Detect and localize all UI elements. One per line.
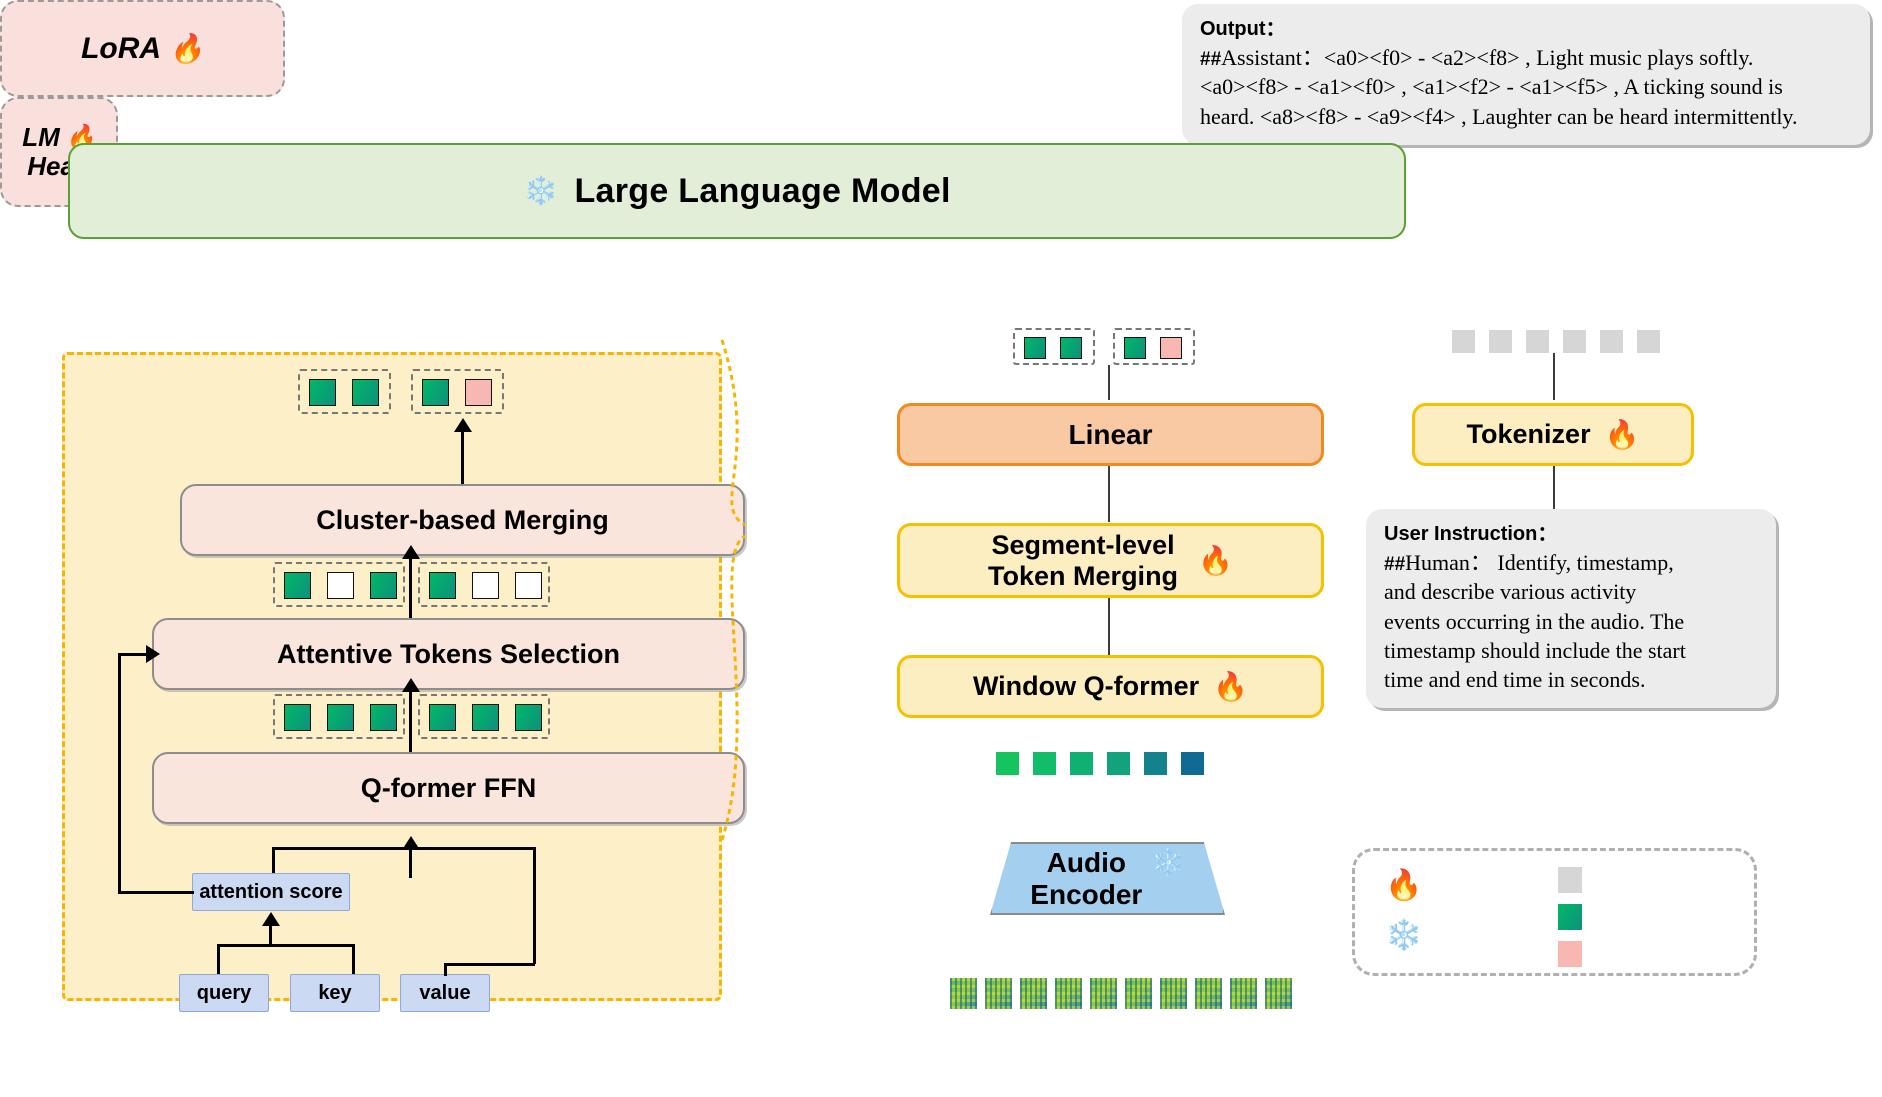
- fire-icon: 🔥: [169, 35, 204, 63]
- arrow-head: [262, 912, 280, 926]
- attention-score-label: attention score: [199, 881, 342, 904]
- spectrogram-patch: [1090, 978, 1117, 1009]
- token-green: [1107, 752, 1130, 775]
- token-green: [429, 704, 456, 731]
- key-label: key: [318, 982, 351, 1005]
- token-gray: [1526, 330, 1549, 353]
- legend-swatch-pink: [1558, 941, 1582, 967]
- audio-encoder-block[interactable]: Audio Encoder ❄️: [990, 842, 1225, 915]
- output-line-3: heard. <a8><f8> - <a9><f4> , Laughter ca…: [1200, 104, 1798, 129]
- snowflake-icon: ❄️: [1385, 921, 1422, 951]
- audio-encoder-label-line2: Encoder: [1030, 879, 1142, 910]
- attentive-tokens-selection-label: Attentive Tokens Selection: [277, 639, 620, 670]
- large-language-model-block[interactable]: ❄️ Large Language Model: [68, 143, 1406, 239]
- cluster-based-merging-label: Cluster-based Merging: [316, 505, 609, 536]
- token-gray: [1489, 330, 1512, 353]
- token-green: [1024, 337, 1046, 359]
- token-gray: [1563, 330, 1586, 353]
- token-green: [1033, 752, 1056, 775]
- lora-block[interactable]: LoRA 🔥: [0, 0, 285, 97]
- attention-score-box[interactable]: attention score: [192, 873, 350, 911]
- connector-line: [409, 690, 412, 752]
- connector-line: [1108, 598, 1110, 655]
- connector-line: [1108, 365, 1110, 400]
- audio-encoder-label: Audio Encoder ❄️: [1030, 847, 1184, 910]
- fire-icon: 🔥: [1213, 673, 1248, 701]
- token-green: [1060, 337, 1082, 359]
- connector-line: [444, 963, 535, 966]
- spectrogram-patch: [950, 978, 977, 1009]
- legend-swatch-gray: [1558, 867, 1582, 893]
- output-bubble: Output： ##Assistant：<a0><f0> - <a2><f8> …: [1182, 4, 1870, 145]
- connector-line: [272, 847, 535, 850]
- connector-line: [352, 944, 355, 975]
- connector-line: [217, 944, 354, 947]
- token-green: [284, 572, 311, 599]
- connector-line: [269, 924, 272, 946]
- llm-label: Large Language Model: [574, 172, 950, 211]
- spectrogram-patch: [1230, 978, 1257, 1009]
- fire-icon: 🔥: [1605, 421, 1640, 449]
- qformer-ffn-label: Q-former FFN: [361, 773, 537, 804]
- token-gray: [1600, 330, 1623, 353]
- token-pink: [1160, 337, 1182, 359]
- lm-head-label-line1: LM: [22, 123, 60, 152]
- snowflake-icon: ❄️: [523, 177, 558, 205]
- spectrogram-patch: [1195, 978, 1222, 1009]
- legend-box: 🔥 ❄️: [1352, 848, 1757, 976]
- spectrogram-patch: [985, 978, 1012, 1009]
- linear-label: Linear: [1068, 419, 1152, 451]
- tokenizer-label: Tokenizer: [1467, 419, 1591, 450]
- token-green: [996, 752, 1019, 775]
- audio-encoder-label-line1: Audio: [1030, 847, 1142, 878]
- spectrogram-patch: [1160, 978, 1187, 1009]
- value-box[interactable]: value: [400, 974, 490, 1012]
- fire-icon: 🔥: [1198, 547, 1233, 575]
- spectrogram-patch: [1265, 978, 1292, 1009]
- output-line-2: <a0><f8> - <a1><f0> , <a1><f2> - <a1><f5…: [1200, 74, 1783, 99]
- figure-canvas: Output： ##Assistant：<a0><f0> - <a2><f8> …: [0, 0, 1882, 1097]
- spectrogram-patch: [1055, 978, 1082, 1009]
- connector-line: [118, 654, 121, 892]
- zoom-connector: [600, 340, 790, 860]
- token-green: [1144, 752, 1167, 775]
- arrow-head: [454, 418, 472, 432]
- tokenizer-block[interactable]: Tokenizer 🔥: [1412, 403, 1694, 466]
- connector-line: [1108, 466, 1110, 522]
- fire-icon: 🔥: [1385, 871, 1422, 901]
- token-white: [515, 572, 542, 599]
- token-green: [370, 704, 397, 731]
- token-green: [1124, 337, 1146, 359]
- token-gray: [1452, 330, 1475, 353]
- arrow-head: [402, 678, 420, 692]
- segment-merging-label-line2: Token Merging: [988, 561, 1178, 591]
- user-line-1: Human： Identify, timestamp,: [1405, 550, 1674, 575]
- query-box[interactable]: query: [179, 974, 269, 1012]
- window-qformer-block[interactable]: Window Q-former 🔥: [897, 655, 1324, 718]
- token-green: [472, 704, 499, 731]
- output-bubble-header: Output：: [1200, 16, 1854, 43]
- token-green: [429, 572, 456, 599]
- connector-line: [272, 847, 275, 875]
- token-gray: [1637, 330, 1660, 353]
- token-pink: [465, 379, 492, 406]
- user-instruction-body: ##Human： Identify, timestamp, and descri…: [1384, 548, 1760, 694]
- linear-block[interactable]: Linear: [897, 403, 1324, 466]
- window-qformer-label: Window Q-former: [973, 671, 1199, 702]
- user-line-3: events occurring in the audio. The: [1384, 609, 1684, 634]
- lora-label: LoRA: [81, 32, 161, 65]
- connector-line: [409, 556, 412, 618]
- user-line-2: and describe various activity: [1384, 579, 1636, 604]
- token-green: [422, 379, 449, 406]
- output-line-1: Assistant：<a0><f0> - <a2><f8> , Light mu…: [1221, 45, 1753, 70]
- user-instruction-header: User Instruction：: [1384, 521, 1760, 548]
- output-hash-marker: ##: [1200, 49, 1221, 70]
- value-label: value: [419, 982, 470, 1005]
- token-green: [309, 379, 336, 406]
- connector-line: [1553, 353, 1555, 400]
- connector-line: [533, 847, 536, 964]
- token-green: [515, 704, 542, 731]
- token-white: [472, 572, 499, 599]
- token-white: [327, 572, 354, 599]
- connector-line: [409, 848, 412, 878]
- arrow-head: [402, 545, 420, 559]
- user-instruction-bubble: User Instruction： ##Human： Identify, tim…: [1366, 509, 1776, 708]
- user-line-5: time and end time in seconds.: [1384, 667, 1646, 692]
- query-label: query: [197, 982, 251, 1005]
- arrow-head: [146, 645, 160, 663]
- token-green: [370, 572, 397, 599]
- segment-level-token-merging-block[interactable]: Segment-level Token Merging 🔥: [897, 523, 1324, 598]
- connector-line: [1553, 466, 1555, 511]
- connector-line: [461, 430, 464, 484]
- user-hash-marker: ##: [1384, 554, 1405, 575]
- key-box[interactable]: key: [290, 974, 380, 1012]
- connector-line: [217, 944, 220, 975]
- spectrogram-patch: [1020, 978, 1047, 1009]
- token-green: [1070, 752, 1093, 775]
- segment-merging-label-line1: Segment-level: [988, 530, 1178, 560]
- connector-line: [118, 891, 194, 894]
- token-green: [1181, 752, 1204, 775]
- legend-swatch-green: [1558, 904, 1582, 930]
- token-green: [284, 704, 311, 731]
- output-bubble-body: ##Assistant：<a0><f0> - <a2><f8> , Light …: [1200, 43, 1854, 131]
- token-green: [352, 379, 379, 406]
- spectrogram-patch: [1125, 978, 1152, 1009]
- snowflake-icon: ❄️: [1152, 849, 1184, 875]
- user-line-4: timestamp should include the start: [1384, 638, 1686, 663]
- token-green: [327, 704, 354, 731]
